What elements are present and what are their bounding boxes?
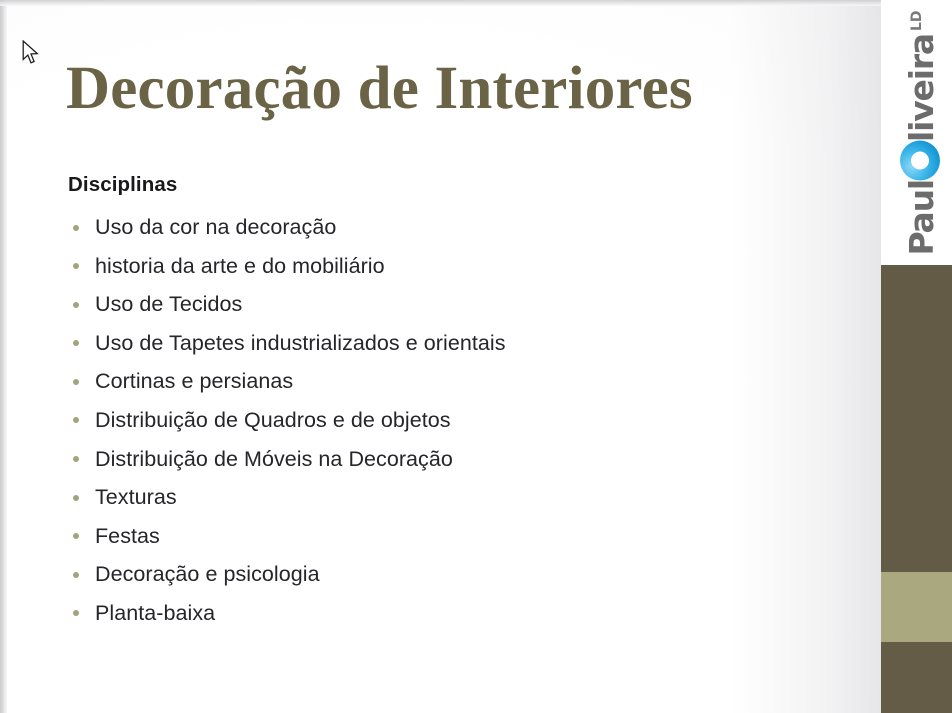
slide-title: Decoração de Interiores (66, 52, 856, 126)
bullet-dot-icon (73, 417, 79, 423)
brand-suffix: LD (909, 10, 925, 31)
list-item-label: Uso de Tapetes industrializados e orient… (95, 331, 506, 355)
list-item: Decoração e psicologia (68, 555, 858, 594)
slide-sidebar: Paul liveira LD (881, 0, 952, 713)
sidebar-band-olive-top (881, 265, 952, 572)
bullet-dot-icon (73, 225, 79, 231)
list-item: Cortinas e persianas (68, 362, 858, 401)
disciplines-list: Uso da cor na decoração historia da arte… (68, 208, 858, 633)
sidebar-band-olive-bottom (881, 642, 952, 713)
list-item-label: Festas (95, 524, 160, 548)
list-item-label: Distribuição de Móveis na Decoração (95, 447, 453, 471)
background-top-edge (0, 0, 952, 6)
list-item-label: Uso de Tecidos (95, 292, 242, 316)
bullet-dot-icon (73, 302, 79, 308)
brand-logo: Paul liveira LD (881, 0, 952, 265)
sidebar-logo-area: Paul liveira LD (881, 0, 952, 265)
list-item: Uso de Tapetes industrializados e orient… (68, 324, 858, 363)
brand-text-after-o: liveira (902, 33, 941, 141)
brand-ring-shape (900, 140, 940, 180)
brand-ring-icon (900, 140, 940, 180)
list-item-label: Distribuição de Quadros e de objetos (95, 408, 451, 432)
slide-body: Disciplinas Uso da cor na decoração hist… (68, 172, 858, 633)
bullet-dot-icon (73, 533, 79, 539)
brand-wordmark: Paul liveira LD (893, 10, 941, 255)
bullet-dot-icon (73, 572, 79, 578)
bullet-dot-icon (73, 610, 79, 616)
bullet-dot-icon (73, 379, 79, 385)
list-item-label: Texturas (95, 485, 177, 509)
list-item-label: Decoração e psicologia (95, 562, 320, 586)
list-item: Uso da cor na decoração (68, 208, 858, 247)
background-left-edge (0, 0, 7, 713)
sidebar-band-sage (881, 572, 952, 642)
list-item-label: Cortinas e persianas (95, 369, 293, 393)
presentation-slide: Decoração de Interiores Disciplinas Uso … (0, 0, 952, 713)
list-item: Distribuição de Móveis na Decoração (68, 440, 858, 479)
list-item-label: historia da arte e do mobiliário (95, 254, 385, 278)
list-item-label: Uso da cor na decoração (95, 215, 336, 239)
bullet-dot-icon (73, 456, 79, 462)
list-item: Distribuição de Quadros e de objetos (68, 401, 858, 440)
list-item: Uso de Tecidos (68, 285, 858, 324)
list-item: Festas (68, 517, 858, 556)
body-sub-heading: Disciplinas (68, 172, 858, 198)
list-item-label: Planta-baixa (95, 601, 215, 625)
list-item: Texturas (68, 478, 858, 517)
list-item: Planta-baixa (68, 594, 858, 633)
list-item: historia da arte e do mobiliário (68, 247, 858, 286)
bullet-dot-icon (73, 263, 79, 269)
bullet-dot-icon (73, 340, 79, 346)
brand-text-before-o: Paul (902, 179, 941, 255)
bullet-dot-icon (73, 495, 79, 501)
